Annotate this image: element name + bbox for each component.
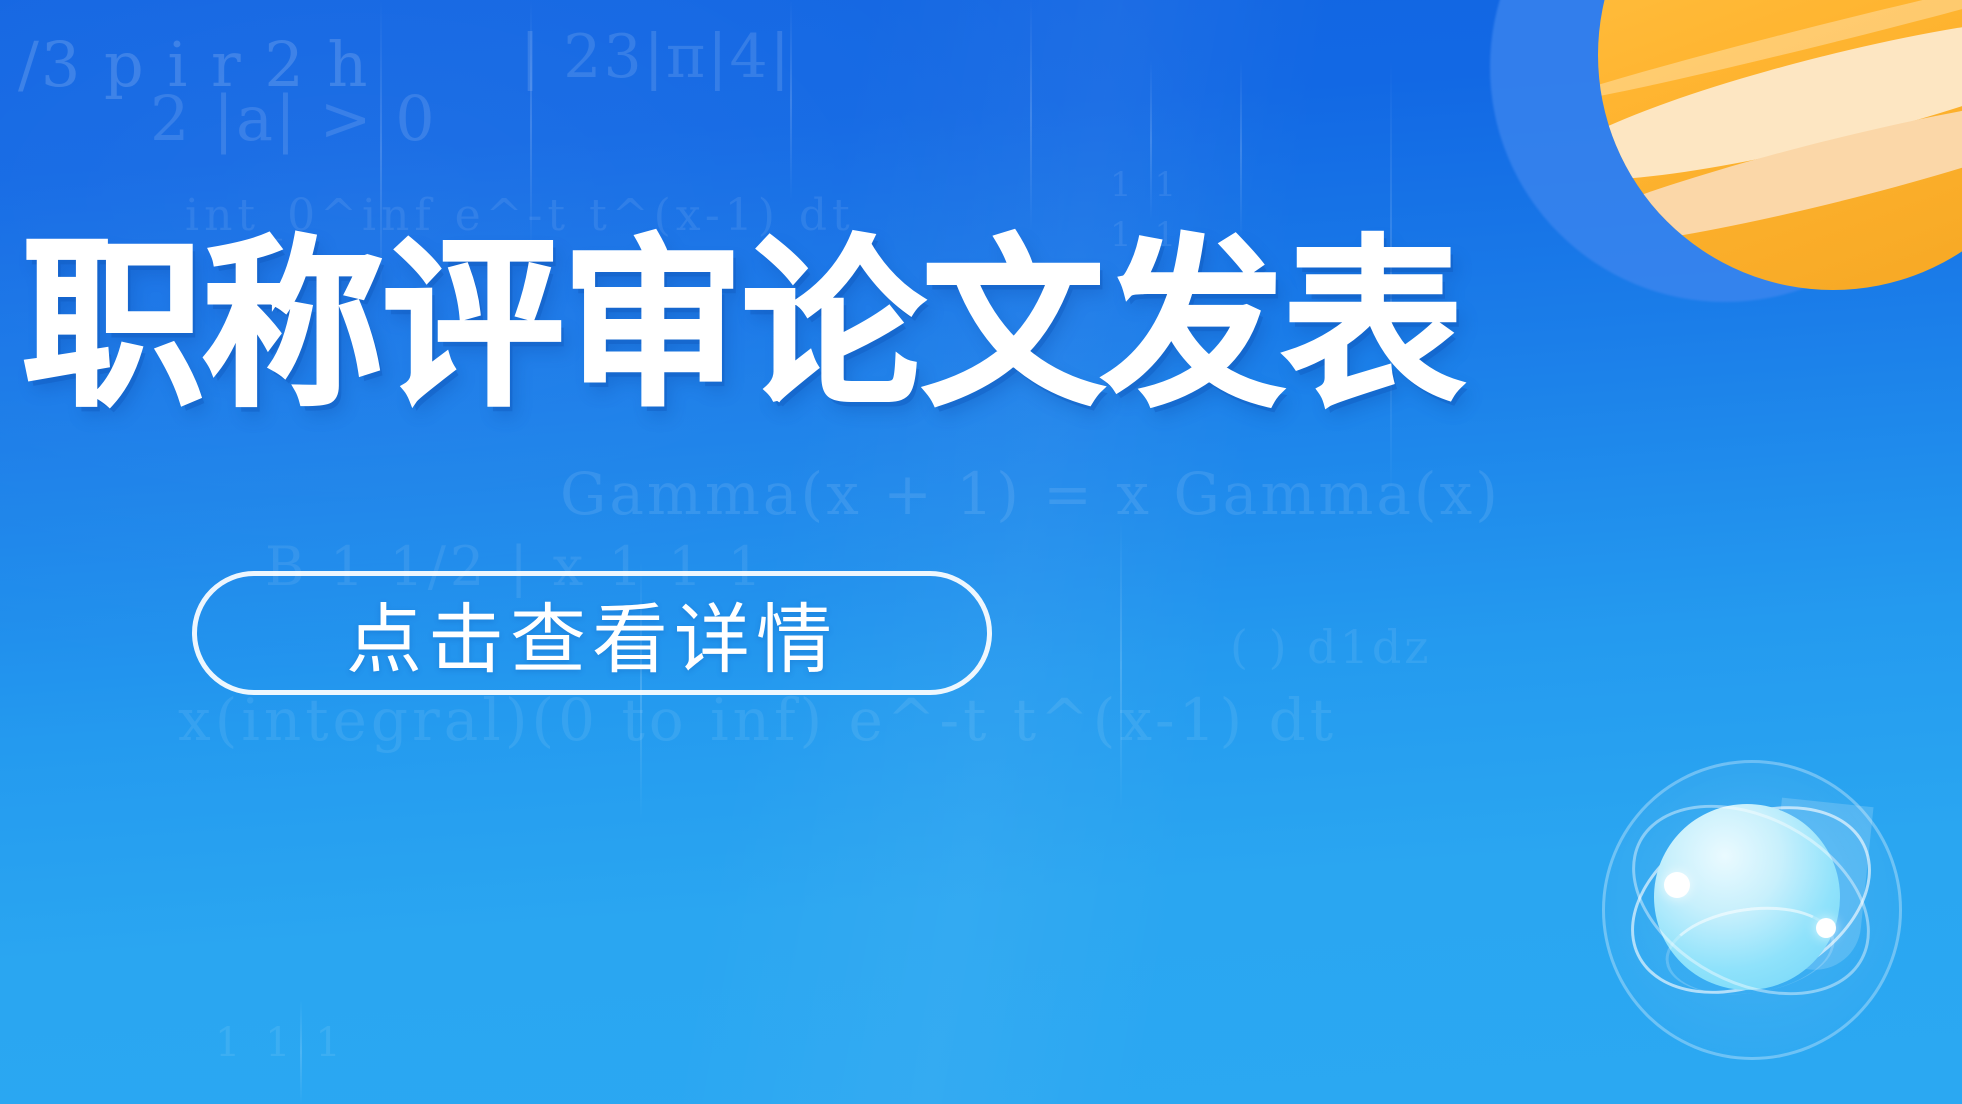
atom-wedge-highlight (1764, 798, 1873, 975)
watermark-formula-10: ( ) d1dz (1230, 620, 1432, 674)
view-details-label: 点击查看详情 (346, 578, 838, 688)
hairline-7 (1240, 60, 1242, 240)
hairline-4 (1030, 0, 1032, 230)
planet-band-light-2 (1598, 70, 1962, 271)
watermark-formula-2: | 23|π|4| (520, 22, 792, 92)
page-title: 职称评审论文发表 (22, 234, 1462, 416)
planet-shadow (1490, 0, 1960, 302)
watermark-formula-11: 1 1 1 (215, 1020, 347, 1066)
atom-electron-1 (1664, 872, 1690, 898)
view-details-button[interactable]: 点击查看详情 (192, 571, 992, 695)
atom-sphere-icon (1602, 760, 1902, 1060)
planet-band-edge (1598, 0, 1962, 112)
planet-body (1598, 0, 1962, 290)
planet-band-light (1598, 0, 1962, 210)
promo-banner: /3 p i r 2 h | 23|π|4| 2 |a| > 0 int_0^i… (0, 0, 1962, 1104)
watermark-formula-5: Gamma(x + 1) = x Gamma(x) (560, 460, 1501, 528)
atom-core-sphere (1654, 804, 1840, 990)
atom-orbit-a (1600, 769, 1902, 1031)
watermark-formula-7: x(integral)(0 to inf) e^-t t^(x-1) dt (178, 686, 1337, 754)
saturn-planet-icon (1552, 0, 1962, 340)
atom-electron-2 (1816, 918, 1836, 938)
atom-orbit-b (1599, 766, 1902, 1034)
watermark-formula-8: 1 1 (1110, 165, 1182, 205)
hairline-9 (1120, 520, 1122, 810)
watermark-formula-3: 2 |a| > 0 (150, 82, 437, 155)
atom-halo-circle (1602, 760, 1902, 1060)
